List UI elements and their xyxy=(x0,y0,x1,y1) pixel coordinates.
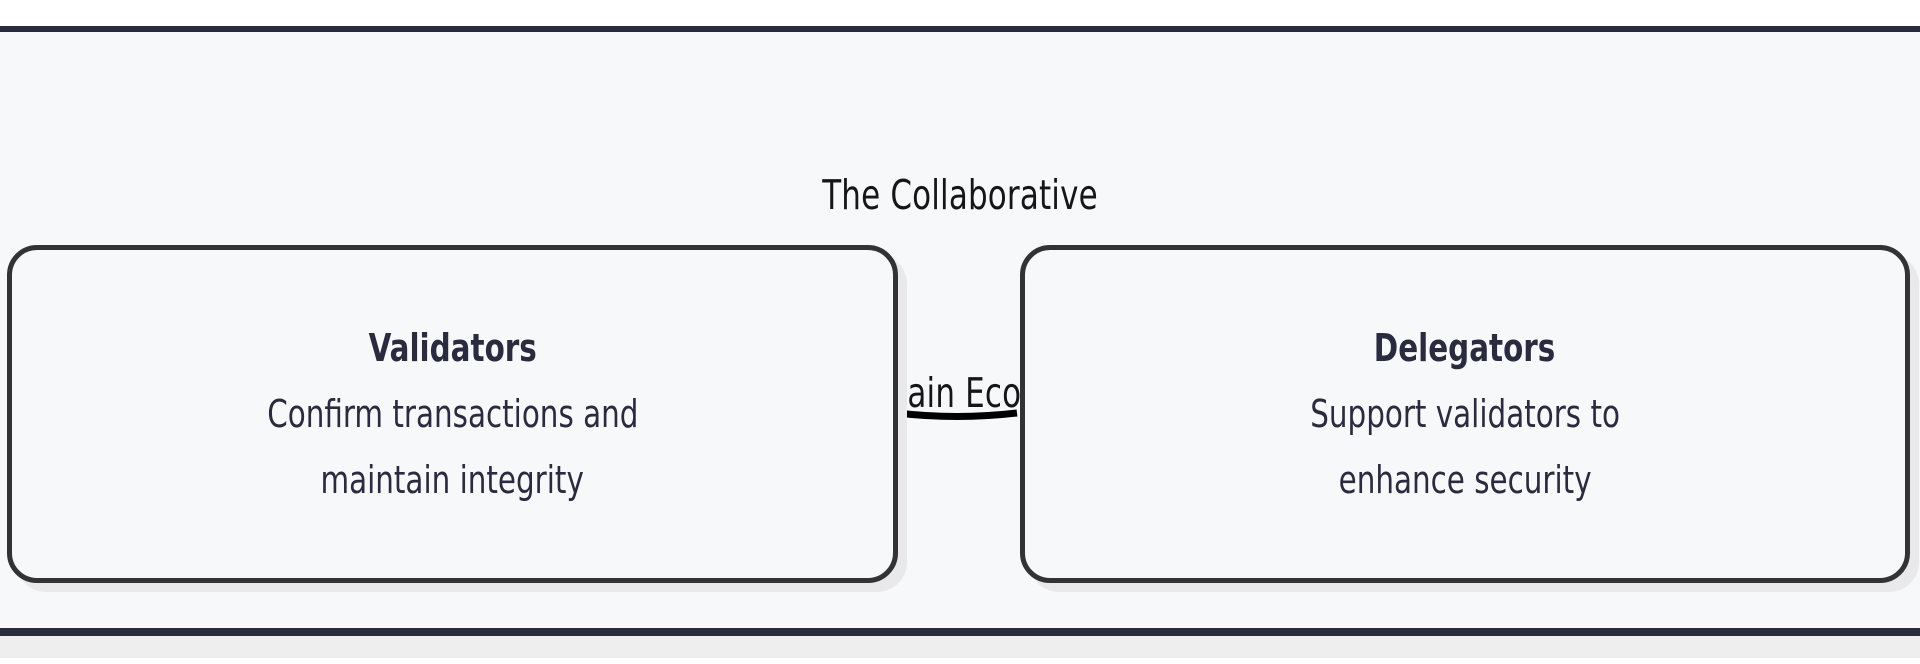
node-validators-heading: Validators xyxy=(368,315,536,381)
node-delegators-desc-line-1: Support validators to xyxy=(1310,381,1620,447)
node-delegators[interactable]: Delegators Support validators to enhance… xyxy=(1020,245,1910,583)
node-validators[interactable]: Validators Confirm transactions and main… xyxy=(7,245,898,583)
connector-validators-delegators xyxy=(893,392,1021,438)
connector-path xyxy=(897,413,1017,417)
diagram-canvas: The Collaborative Blockchain Ecosystem V… xyxy=(0,0,1920,664)
bottom-divider-rule xyxy=(0,628,1920,636)
footer-band xyxy=(0,636,1920,658)
node-validators-desc-line-1: Confirm transactions and xyxy=(267,381,638,447)
node-validators-body: Validators Confirm transactions and main… xyxy=(12,250,893,578)
node-validators-desc-line-2: maintain integrity xyxy=(321,447,584,513)
node-delegators-heading: Delegators xyxy=(1374,315,1556,381)
diagram-title-line-1: The Collaborative xyxy=(154,162,1767,228)
node-delegators-body: Delegators Support validators to enhance… xyxy=(1025,250,1905,578)
node-delegators-desc-line-2: enhance security xyxy=(1338,447,1591,513)
